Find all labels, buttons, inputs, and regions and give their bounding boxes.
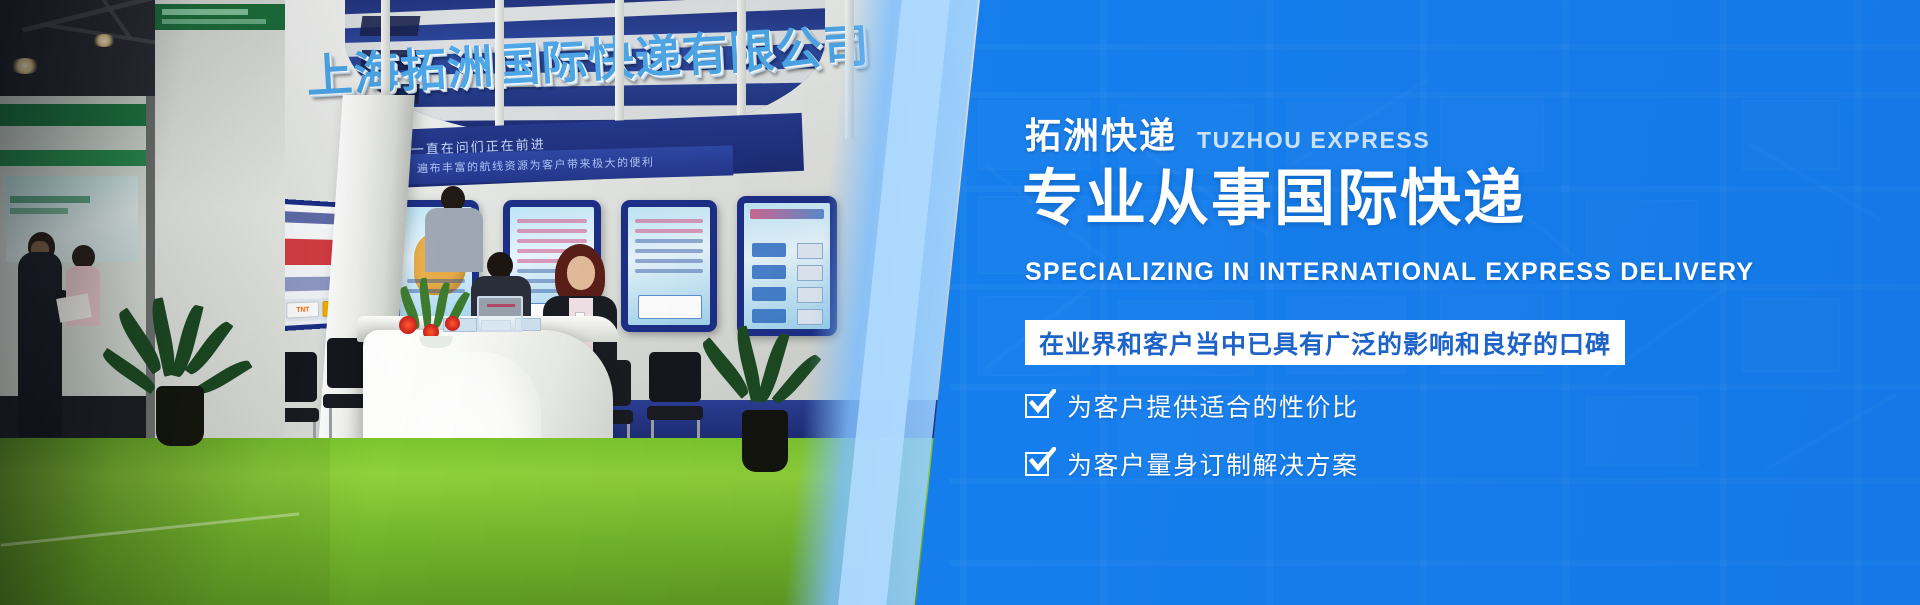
bullet-list: 为客户提供适合的性价比 为客户量身订制解决方案 — [1025, 388, 1359, 504]
booth-post — [495, 0, 504, 139]
brand-row: 拓洲快递 TUZHOU EXPRESS — [1025, 118, 1430, 154]
booth-sign-char: 递 — [634, 33, 681, 81]
flower-arrangement — [397, 282, 487, 344]
check-box-icon — [1025, 394, 1049, 418]
staff-face — [567, 256, 595, 290]
headline-en-subtitle: SPECIALIZING IN INTERNATIONAL EXPRESS DE… — [1025, 258, 1754, 287]
bullet-text: 为客户量身订制解决方案 — [1067, 446, 1359, 482]
check-box-icon — [1025, 452, 1049, 476]
courier-logo-tnt: TNT — [286, 301, 319, 318]
highlight-box-text: 在业界和客户当中已具有广泛的影响和良好的口碑 — [1025, 325, 1611, 361]
booth-sign-char: 快 — [587, 35, 634, 83]
brand-name-en: TUZHOU EXPRESS — [1197, 129, 1430, 154]
carpet-shadow — [0, 438, 330, 605]
hero-banner: 上 海 拓 洲 国 际 快 递 有 限 公 司 服务一直在问们正在前进 — [0, 0, 1920, 605]
neighbour-booth-text-line — [10, 196, 90, 203]
bullet-item: 为客户量身订制解决方案 — [1025, 446, 1359, 482]
booth-sign-char: 公 — [774, 25, 821, 73]
brand-name-cn: 拓洲快递 — [1025, 118, 1177, 154]
neighbour-booth-text-line — [10, 208, 68, 214]
bullet-text: 为客户提供适合的性价比 — [1067, 388, 1359, 424]
adjacent-booth-header-subtext — [162, 19, 266, 24]
neighbour-booth-stripe — [0, 150, 150, 166]
booth-sign-char: 有 — [681, 30, 728, 78]
booth-slogan-subtext: 遍布丰富的航线资源为客户带来极大的便利 — [417, 154, 655, 177]
booth-sign-char: 际 — [540, 38, 587, 86]
staff-body — [425, 208, 483, 272]
staff-head — [487, 252, 513, 279]
ceiling-light-icon — [92, 34, 116, 47]
booth-sign-char: 限 — [727, 28, 774, 76]
adjacent-booth-header-text — [162, 9, 248, 15]
bullet-item: 为客户提供适合的性价比 — [1025, 388, 1359, 424]
adjacent-booth-header-bar — [155, 4, 285, 30]
booth-sign-char: 上 — [305, 51, 352, 99]
potted-plant — [122, 300, 242, 450]
neighbour-booth-header — [0, 104, 150, 126]
visitor-in-suit — [18, 252, 62, 437]
booth-sign-char: 海 — [352, 49, 399, 97]
ceiling-light-icon — [10, 58, 40, 74]
booth-sign-char: 洲 — [446, 43, 493, 91]
booth-sign-char: 拓 — [399, 46, 446, 94]
banner-text-content: 拓洲快递 TUZHOU EXPRESS 专业从事国际快递 SPECIALIZIN… — [1025, 0, 1845, 605]
headline-cn: 专业从事国际快递 — [1022, 166, 1526, 232]
highlight-box: 在业界和客户当中已具有广泛的影响和良好的口碑 — [1025, 320, 1625, 365]
display-board-text-2 — [621, 200, 717, 332]
booth-post — [615, 0, 624, 139]
neighbour-booth-panel — [6, 176, 138, 262]
